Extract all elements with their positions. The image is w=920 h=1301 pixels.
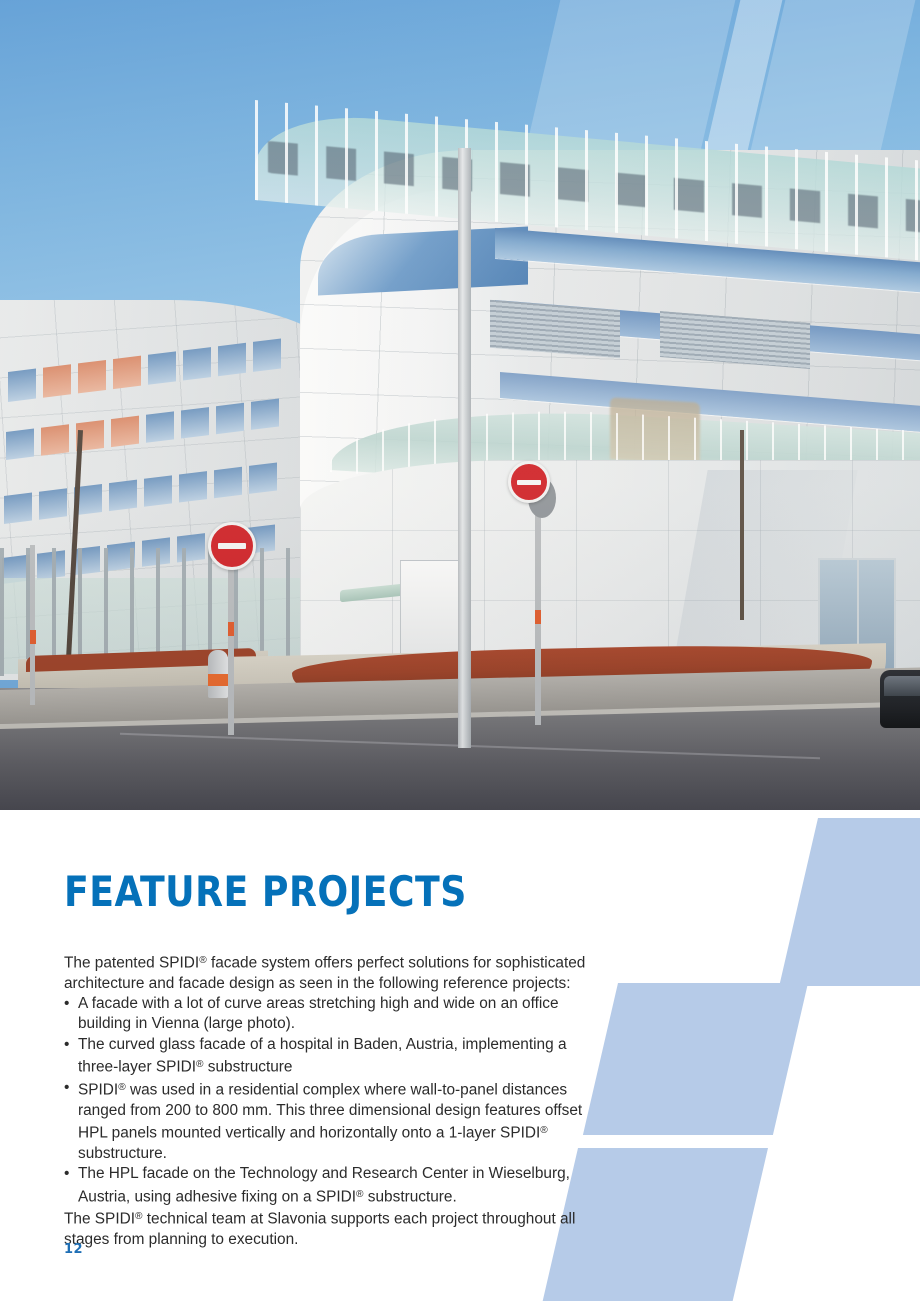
content-area: FEATURE PROJECTS The patented SPIDI® fac…	[0, 810, 920, 1301]
bullet-text-c: substructure.	[78, 1145, 167, 1162]
bullet-text-b: substructure.	[364, 1188, 457, 1205]
intro-text-a: The patented SPIDI	[64, 954, 199, 971]
decor-parallelogram	[779, 818, 920, 986]
list-item: A facade with a lot of curve areas stret…	[64, 994, 604, 1035]
bullet-text-a: The curved glass facade of a hospital in…	[78, 1036, 567, 1076]
bullet-text-a: The HPL facade on the Technology and Res…	[78, 1165, 570, 1205]
sign-pole	[228, 560, 234, 735]
bullet-text: A facade with a lot of curve areas stret…	[78, 995, 559, 1032]
no-entry-sign-icon	[208, 522, 256, 570]
pole-marker	[228, 622, 234, 636]
outro-paragraph: The SPIDI® technical team at Slavonia su…	[64, 1207, 604, 1250]
registered-mark: ®	[196, 1059, 203, 1070]
registered-mark: ®	[540, 1125, 547, 1136]
intro-text-b: facade system offers perfect solutions f…	[207, 954, 586, 971]
intro-paragraph: The patented SPIDI® facade system offers…	[64, 951, 604, 994]
bullet-text-b: substructure	[204, 1059, 293, 1076]
decor-parallelogram	[583, 983, 808, 1135]
registered-mark: ®	[118, 1082, 125, 1093]
sign-pole	[30, 545, 35, 705]
outro-text-a: The SPIDI	[64, 1210, 135, 1227]
pole-marker	[30, 630, 36, 644]
body-copy: The patented SPIDI® facade system offers…	[64, 951, 604, 1250]
registered-mark: ®	[356, 1189, 363, 1200]
page-title: FEATURE PROJECTS	[64, 867, 467, 916]
page-root: FEATURE PROJECTS The patented SPIDI® fac…	[0, 0, 920, 1301]
bullet-text-b: was used in a residential complex where …	[78, 1081, 582, 1141]
project-bullet-list: A facade with a lot of curve areas stret…	[64, 994, 604, 1207]
intro-text-c: architecture and facade design as seen i…	[64, 975, 571, 992]
list-item: SPIDI® was used in a residential complex…	[64, 1078, 604, 1164]
hero-photo	[0, 0, 920, 810]
street-light-pole	[458, 148, 471, 748]
bollard	[208, 650, 228, 698]
list-item: The HPL facade on the Technology and Res…	[64, 1164, 604, 1207]
bullet-text-a: SPIDI	[78, 1081, 118, 1098]
page-number: 12	[64, 1242, 83, 1257]
list-item: The curved glass facade of a hospital in…	[64, 1035, 604, 1078]
pole-marker	[535, 610, 541, 624]
registered-mark: ®	[199, 955, 206, 966]
tree-trunk	[740, 430, 744, 620]
no-entry-sign-icon	[508, 461, 550, 503]
car-window	[884, 676, 920, 696]
